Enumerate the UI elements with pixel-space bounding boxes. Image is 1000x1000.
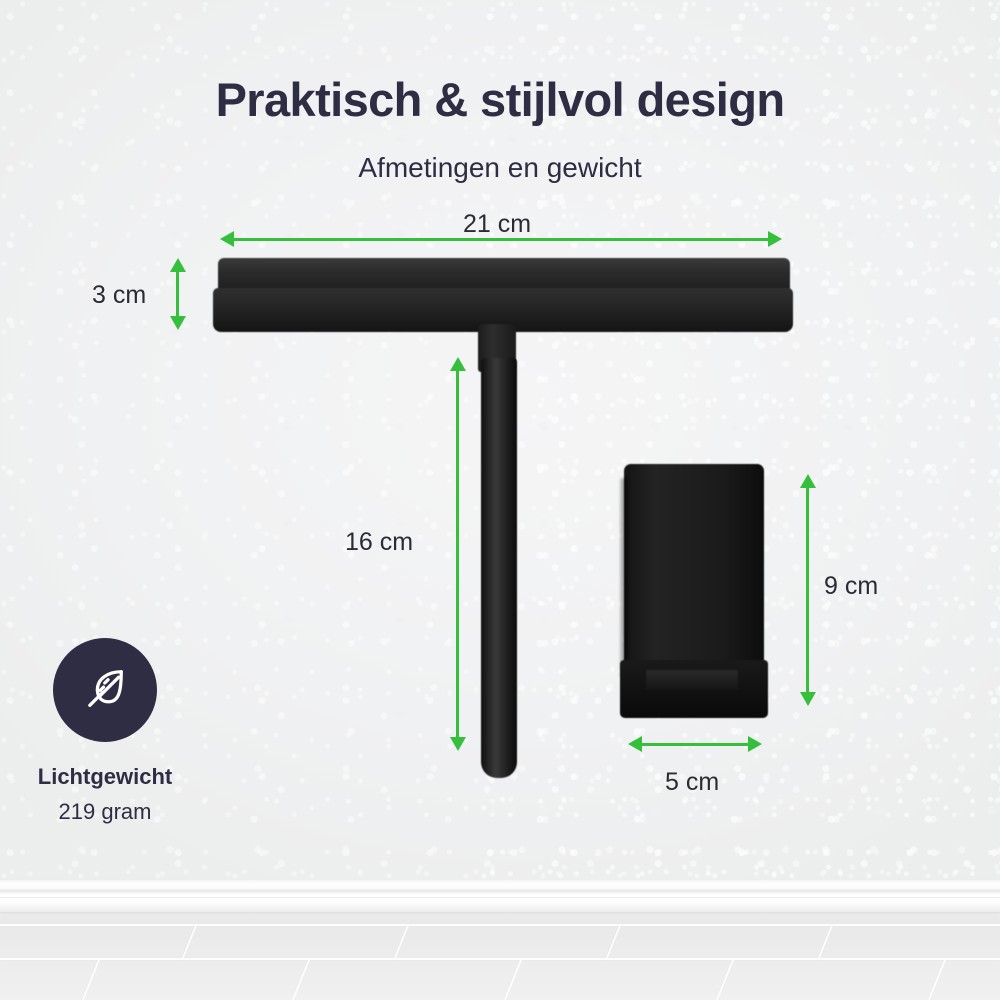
arrow-head-down-icon: [170, 316, 186, 330]
arrow-head-left-icon: [628, 736, 642, 752]
dimension-label-5cm: 5 cm: [665, 768, 719, 797]
floor-tile-line: [605, 926, 621, 960]
product-dimension-infographic: Praktisch & stijlvol design Afmetingen e…: [0, 0, 1000, 1000]
wall-hook-product-image: [620, 464, 768, 718]
arrow-head-left-icon: [220, 231, 234, 247]
floor-tile-line: [504, 960, 522, 1000]
dimension-label-3cm: 3 cm: [92, 281, 146, 310]
dimension-line-horizontal: [640, 743, 750, 746]
badge-value: 219 gram: [15, 799, 195, 825]
page-title: Praktisch & stijlvol design: [0, 72, 1000, 127]
dimension-line-vertical: [176, 270, 179, 318]
floor-tile-line: [82, 960, 100, 1000]
floor-tile-line: [393, 926, 409, 960]
badge-title: Lichtgewicht: [15, 764, 195, 790]
floor-tile-line: [928, 960, 946, 1000]
dimension-line-horizontal: [232, 238, 770, 241]
floor-tile-line: [0, 924, 1000, 926]
arrow-head-right-icon: [748, 736, 762, 752]
floor-tile-line: [716, 960, 734, 1000]
hook-lip-notch: [646, 670, 738, 690]
arrow-head-up-icon: [170, 258, 186, 272]
arrow-head-up-icon: [800, 474, 816, 488]
floor-tile-line: [817, 926, 833, 960]
dimension-line-vertical: [806, 487, 809, 693]
skirting-board: [0, 880, 1000, 912]
hook-side-shadow: [620, 478, 628, 676]
page-subtitle: Afmetingen en gewicht: [0, 152, 1000, 184]
floor-tile-line: [0, 958, 1000, 960]
arrow-head-down-icon: [800, 692, 816, 706]
lightweight-badge: Lichtgewicht 219 gram: [15, 638, 195, 825]
arrow-head-right-icon: [768, 231, 782, 247]
badge-icon-circle: [53, 638, 157, 742]
hook-plate: [624, 464, 764, 676]
floor-tile-line: [181, 926, 197, 960]
floor-tile-line: [292, 960, 310, 1000]
floor: [0, 880, 1000, 1000]
squeegee-blade: [218, 258, 790, 290]
squeegee-handle: [481, 358, 517, 778]
dimension-label-9cm: 9 cm: [824, 572, 878, 601]
feather-icon: [79, 662, 131, 719]
dimension-label-21cm: 21 cm: [463, 210, 531, 239]
